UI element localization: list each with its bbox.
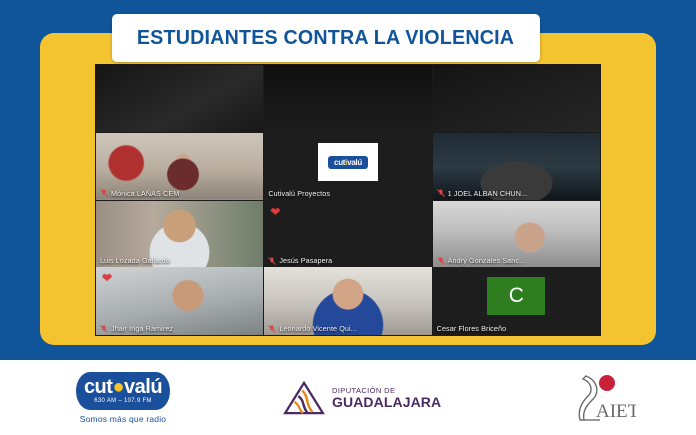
heart-reaction-icon: ❤: [270, 206, 280, 218]
guadalajara-wordmark: DIPUTACIÓN DE GUADALAJARA: [332, 386, 441, 410]
cutivalu-word-first: cut: [84, 376, 113, 398]
heart-reaction-icon: ❤: [102, 272, 112, 284]
mic-muted-icon: [100, 325, 108, 333]
participant-tile-cesar[interactable]: C Cesar Flores Briceño: [433, 267, 600, 335]
participant-tile[interactable]: [264, 65, 431, 132]
cutivalu-tagline: Somos más que radio: [48, 414, 198, 424]
page-title: ESTUDIANTES CONTRA LA VIOLENCIA: [137, 26, 514, 50]
aieti-dot-icon: [599, 375, 615, 391]
participant-name: Cutivalú Proyectos: [268, 189, 330, 198]
mic-muted-icon: [437, 257, 445, 265]
participant-name: Leonardo Vicente Qui...: [279, 324, 357, 333]
poster-root: Mónica LAÑAS CEM cutivalú Cutivalú Proye…: [0, 0, 696, 435]
participant-name: Jhair Inga Ramirez: [111, 324, 173, 333]
participant-tile[interactable]: [96, 65, 263, 132]
participant-name: 1 JOEL ALBAN CHUN...: [448, 189, 528, 198]
participant-name: Cesar Flores Briceño: [437, 324, 507, 333]
participant-tile-monica[interactable]: Mónica LAÑAS CEM: [96, 133, 263, 200]
participant-name-bar: Cutivalú Proyectos: [264, 188, 431, 199]
mic-muted-icon: [268, 257, 276, 265]
participant-grid-bottom-row: ❤ Jhair Inga Ramirez Leonardo Vic: [96, 267, 600, 335]
title-banner: ESTUDIANTES CONTRA LA VIOLENCIA: [112, 14, 540, 62]
participant-name-bar: Luis Lozada Gallardo: [96, 255, 263, 266]
cutivalu-logo: cut●valú 630 AM – 107.9 FM Somos más que…: [48, 372, 198, 424]
participant-tile-joel[interactable]: 1 JOEL ALBAN CHUN...: [433, 133, 600, 200]
cutivalu-mic-icon: ●: [112, 376, 124, 398]
video-feed: [433, 65, 600, 132]
mic-muted-icon: [437, 189, 445, 197]
aieti-wordmark: AIETI: [596, 401, 636, 422]
video-feed: [96, 65, 263, 132]
participant-name-bar: Andry Gonzales Sanc...: [433, 255, 600, 266]
participant-tile[interactable]: [433, 65, 600, 132]
mic-muted-icon: [100, 189, 108, 197]
mic-muted-icon: [268, 325, 276, 333]
guadalajara-triangle-icon: [283, 381, 325, 415]
participant-tile-andry[interactable]: Andry Gonzales Sanc...: [433, 201, 600, 268]
guadalajara-logo: DIPUTACIÓN DE GUADALAJARA: [283, 381, 441, 415]
participant-name: Luis Lozada Gallardo: [100, 256, 170, 265]
cutivalu-wordmark: cut●valú: [84, 377, 162, 397]
participant-name-bar: Jesús Pasapera: [264, 255, 431, 266]
avatar-initial: C: [487, 277, 545, 315]
cutivalu-badge: cut●valú 630 AM – 107.9 FM: [76, 372, 170, 410]
participant-tile-jesus[interactable]: ❤ Jesús Pasapera: [264, 201, 431, 268]
participant-name-bar: Leonardo Vicente Qui...: [264, 323, 431, 334]
aieti-logo: AIETI: [566, 370, 636, 428]
participant-name: Mónica LAÑAS CEM: [111, 189, 179, 198]
video-feed: [264, 65, 431, 132]
participant-tile-leonardo[interactable]: Leonardo Vicente Qui...: [264, 267, 431, 335]
participant-tile-jhair[interactable]: ❤ Jhair Inga Ramirez: [96, 267, 263, 335]
participant-name-bar: Cesar Flores Briceño: [433, 323, 600, 334]
participant-name-bar: Mónica LAÑAS CEM: [96, 188, 263, 199]
participant-name-bar: Jhair Inga Ramirez: [96, 323, 263, 334]
participant-name: Jesús Pasapera: [279, 256, 332, 265]
cutivalu-mini-wordmark: cutivalú: [328, 156, 368, 169]
participant-name: Andry Gonzales Sanc...: [448, 256, 526, 265]
cutivalu-word-second: valú: [124, 376, 162, 398]
participant-tile-luis[interactable]: Luis Lozada Gallardo: [96, 201, 263, 268]
zoom-meeting-window: Mónica LAÑAS CEM cutivalú Cutivalú Proye…: [95, 64, 601, 336]
cutivalu-frequency: 630 AM – 107.9 FM: [84, 398, 162, 404]
cutivalu-logo-thumb: cutivalú: [318, 143, 378, 181]
participant-tile-cutivalu-active[interactable]: cutivalú Cutivalú Proyectos: [264, 133, 431, 200]
guadalajara-line2: GUADALAJARA: [332, 395, 441, 410]
participant-name-bar: 1 JOEL ALBAN CHUN...: [433, 188, 600, 199]
